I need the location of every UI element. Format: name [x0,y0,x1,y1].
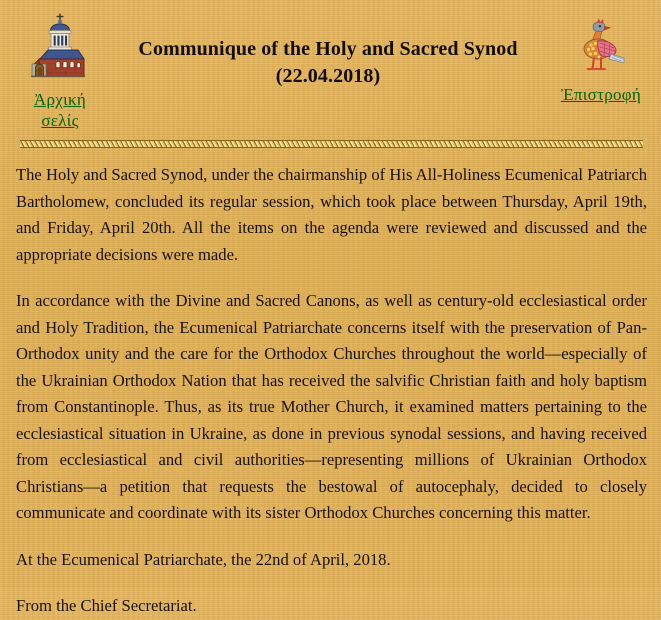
church-icon [14,12,106,83]
home-page-link[interactable]: Ἀρχική σελίς [14,12,106,131]
paragraph-2: In accordance with the Divine and Sacred… [16,288,647,527]
paragraph-1: The Holy and Sacred Synod, under the cha… [16,162,647,268]
decorative-divider [0,136,661,148]
braided-rope-rule [20,140,643,148]
page-title-line2: (22.04.2018) [108,63,548,90]
paragraph-place-and-date: At the Ecumenical Patriarchate, the 22nd… [16,547,647,574]
page-title-line1: Communique of the Holy and Sacred Synod [108,36,548,63]
home-page-link-label-line2[interactable]: σελίς [15,110,105,131]
home-page-link-label-line1[interactable]: Ἀρχική [15,89,105,110]
communique-body: The Holy and Sacred Synod, under the cha… [0,148,661,620]
return-link-label[interactable]: Ἐπιστροφή [561,84,641,105]
page-header: Ἀρχική σελίς Communique of the Holy and … [0,0,661,136]
byzantine-bird-icon [549,14,653,81]
paragraph-signature: From the Chief Secretariat. [16,593,647,620]
return-link[interactable]: Ἐπιστροφή [549,14,653,105]
page-title: Communique of the Holy and Sacred Synod … [108,36,548,90]
